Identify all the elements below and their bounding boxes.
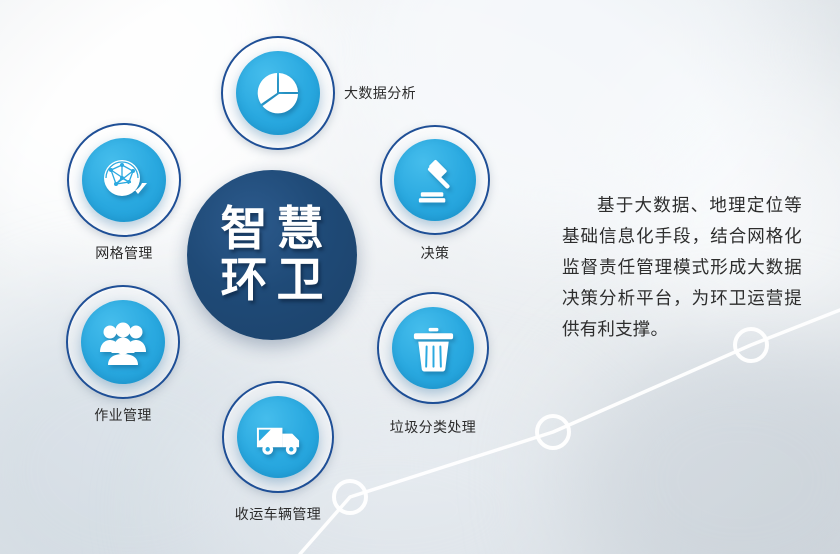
feature-node-label: 作业管理 xyxy=(94,405,152,425)
feature-node-disc[interactable] xyxy=(237,396,319,478)
trash-bin-icon xyxy=(409,324,458,373)
feature-node-label: 决策 xyxy=(421,243,450,263)
feature-node-disc[interactable] xyxy=(394,139,476,221)
pie-chart-icon xyxy=(253,68,303,118)
feature-node-label: 网格管理 xyxy=(95,243,153,263)
feature-node-disc[interactable] xyxy=(82,138,166,222)
hub-title-line-1: 智慧 xyxy=(212,204,333,255)
description-paragraph: 基于大数据、地理定位等基础信息化手段，结合网格化监督责任管理模式形成大数据决策分… xyxy=(562,190,802,345)
feature-node-disc[interactable] xyxy=(236,51,320,135)
infographic-canvas: 智慧 环卫 大数据分析网格管理决策作业管理垃圾分类处理收运车辆管理 基于大数据、… xyxy=(0,0,840,554)
feature-node-disc[interactable] xyxy=(81,300,165,384)
gavel-icon xyxy=(411,156,460,205)
people-group-icon xyxy=(98,317,148,367)
truck-icon xyxy=(254,413,303,462)
feature-node-label: 收运车辆管理 xyxy=(235,504,321,524)
feature-node-label: 垃圾分类处理 xyxy=(390,417,476,437)
hub-title-line-2: 环卫 xyxy=(212,255,333,306)
central-hub: 智慧 环卫 xyxy=(187,170,357,340)
feature-node-disc[interactable] xyxy=(392,307,474,389)
feature-node-label: 大数据分析 xyxy=(344,83,416,103)
globe-network-icon xyxy=(99,155,149,205)
